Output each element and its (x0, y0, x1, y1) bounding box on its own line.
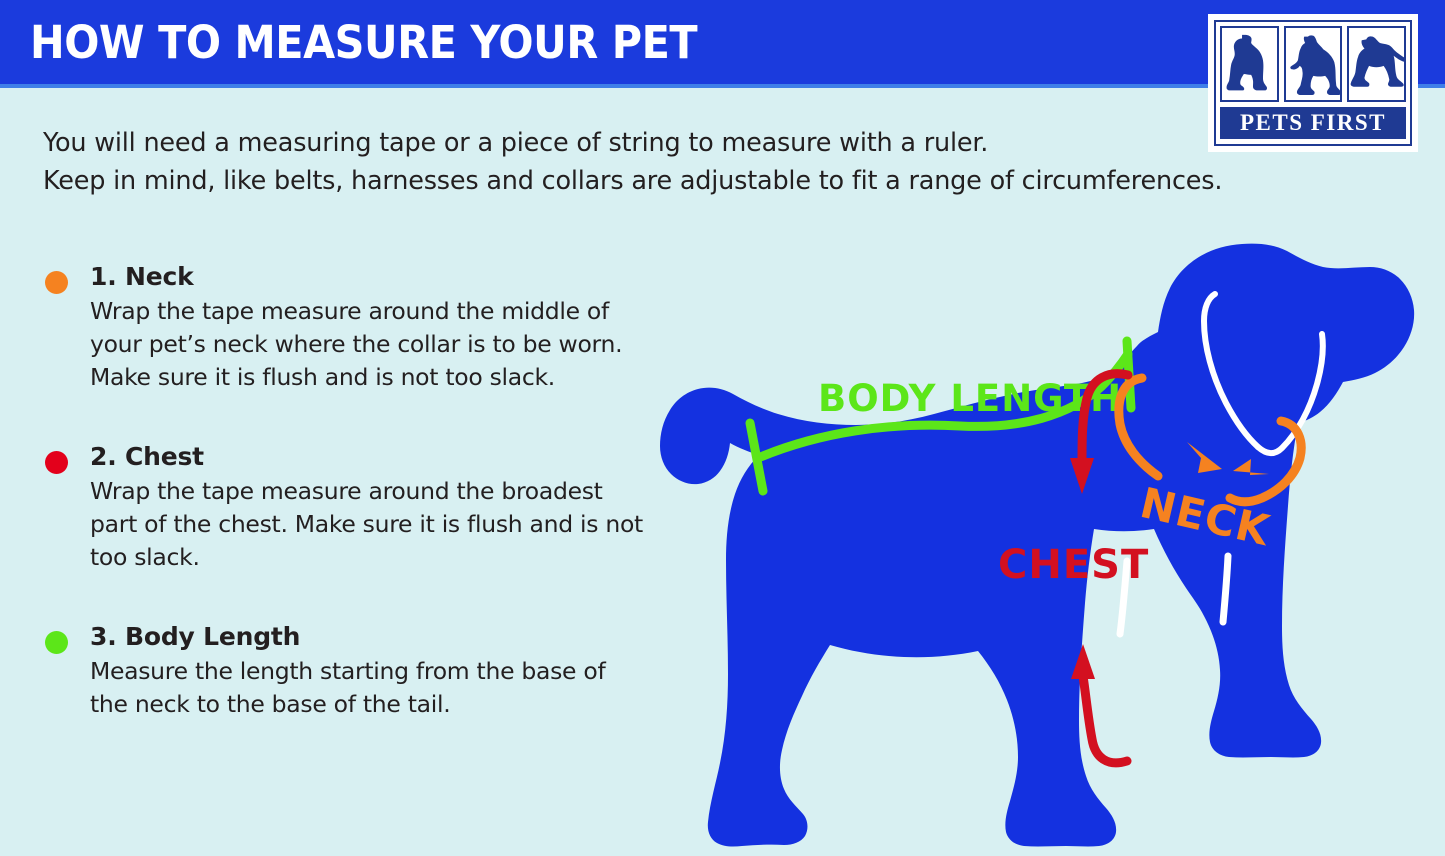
step-bullet-red (45, 451, 68, 474)
sitting-shepherd-silhouette-icon (1347, 26, 1406, 102)
step-item-body-length: 3. Body Length Measure the length starti… (40, 622, 660, 721)
step-title-neck: 1. Neck (90, 262, 660, 292)
body-length-label: BODY LENGTH (818, 377, 1122, 420)
sitting-dog-silhouette-icon (1220, 26, 1279, 102)
step-description-chest: Wrap the tape measure around the broades… (90, 475, 650, 574)
step-item-neck: 1. Neck Wrap the tape measure around the… (40, 262, 660, 394)
step-description-body-length: Measure the length starting from the bas… (90, 655, 650, 721)
logo-dog-panels (1220, 26, 1406, 102)
intro-text: You will need a measuring tape or a piec… (43, 124, 1283, 200)
step-title-chest: 2. Chest (90, 442, 660, 472)
step-bullet-green (45, 631, 68, 654)
step-description-neck: Wrap the tape measure around the middle … (90, 295, 650, 394)
begging-dog-silhouette-icon (1284, 26, 1343, 102)
measurement-steps-list: 1. Neck Wrap the tape measure around the… (40, 262, 660, 721)
intro-line-2: Keep in mind, like belts, harnesses and … (43, 162, 1283, 200)
step-bullet-orange (45, 271, 68, 294)
chest-label: CHEST (998, 542, 1149, 588)
step-item-chest: 2. Chest Wrap the tape measure around th… (40, 442, 660, 574)
dog-measurement-diagram: BODY LENGTH NECK CHEST (630, 226, 1445, 856)
measure-your-pet-infographic: HOW TO MEASURE YOUR PET PETS F (0, 0, 1445, 856)
intro-line-1: You will need a measuring tape or a piec… (43, 124, 1283, 162)
step-title-body-length: 3. Body Length (90, 622, 660, 652)
page-title: HOW TO MEASURE YOUR PET (30, 16, 697, 69)
